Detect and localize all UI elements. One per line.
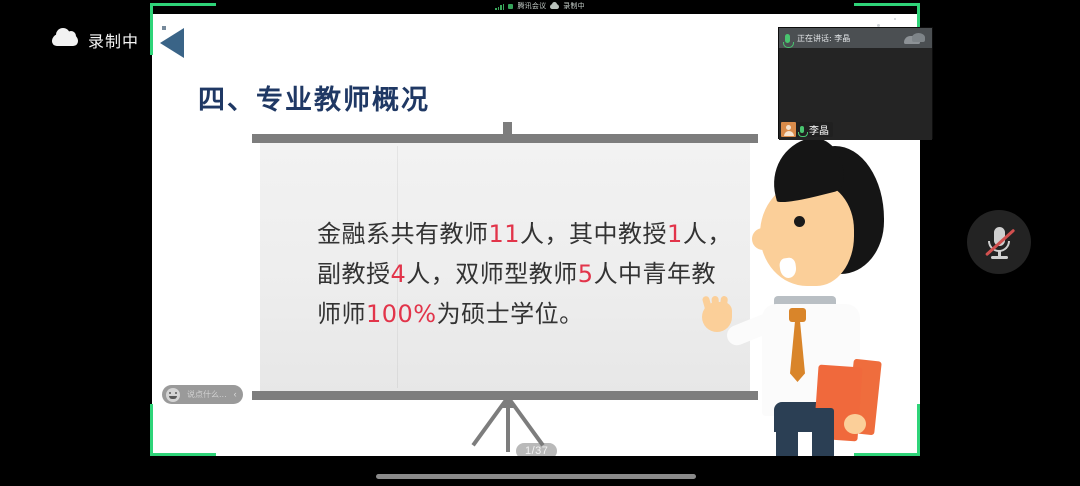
sparkle-icon <box>894 18 896 20</box>
system-status-bar: 腾讯会议 录制中 <box>0 0 1080 13</box>
status-app-name: 腾讯会议 <box>517 3 546 10</box>
video-thumbnail-header: 正在讲话: 李晶 <box>779 28 932 48</box>
tie-knot-shape <box>789 308 806 322</box>
nose-shape <box>752 228 774 250</box>
emoji-icon[interactable] <box>166 388 180 402</box>
leg-left-shape <box>776 408 798 456</box>
video-thumbnail-feed[interactable]: 李晶 <box>779 48 932 140</box>
comment-input-bar[interactable]: 说点什么... ‹ <box>162 385 243 404</box>
cloud-icon <box>550 4 559 9</box>
body-segment: 师 <box>342 300 367 328</box>
mute-toggle-button[interactable] <box>967 210 1031 274</box>
back-triangle-icon[interactable] <box>160 28 184 58</box>
body-segment: 金融系共有教师 <box>317 220 489 248</box>
body-segment: 副教授 <box>317 260 391 288</box>
body-segment: 人，双师型教师 <box>406 260 578 288</box>
cloud-icon <box>52 34 78 46</box>
recording-label: 录制中 <box>88 28 139 52</box>
projector-top-bar <box>252 134 758 143</box>
microphone-base <box>991 256 1008 259</box>
holding-hand-shape <box>844 414 866 434</box>
ear-shape <box>824 240 844 264</box>
person-avatar-icon <box>781 122 796 137</box>
hand-shape <box>702 302 732 332</box>
highlight-number: 5 <box>578 260 594 288</box>
highlight-number: 11 <box>489 220 521 248</box>
body-segment: 人， <box>683 220 732 248</box>
microphone-icon <box>800 126 804 133</box>
body-segment: 为硕士学位。 <box>437 300 584 328</box>
businessman-presenter-illustration <box>732 144 920 456</box>
status-recording-label: 录制中 <box>563 3 585 10</box>
page-title: 四、专业教师概况 <box>198 78 430 117</box>
participant-name-badge: 李晶 <box>781 122 833 137</box>
meeting-screen-share-view: 腾讯会议 录制中 录制中 四、专业教师概况 金融系共有教师11人，其中教授1人，… <box>0 0 1080 486</box>
comment-input-placeholder[interactable]: 说点什么... <box>187 389 227 400</box>
home-indicator-bar <box>376 474 696 479</box>
participant-name: 李晶 <box>809 122 829 137</box>
back-triangle-accent <box>162 26 166 30</box>
speaking-label: 正在讲话: 李晶 <box>797 33 850 44</box>
chevron-left-icon[interactable]: ‹ <box>234 390 237 399</box>
cloud-collapse-icon[interactable] <box>904 33 926 44</box>
highlight-number: 4 <box>391 260 407 288</box>
projector-leg-cap <box>499 398 517 408</box>
slide-body-text: 金融系共有教师11人，其中教授1人，副教授4人，双师型教师5人中青年教师师100… <box>317 214 737 334</box>
body-segment: 人，其中教授 <box>520 220 667 248</box>
signal-bars-icon <box>495 3 504 10</box>
highlight-number: 100% <box>366 300 437 328</box>
microphone-icon <box>785 34 790 43</box>
eye-shape <box>794 216 805 227</box>
leg-right-shape <box>812 408 834 456</box>
recording-badge: 录制中 <box>52 28 139 52</box>
page-indicator: 1/37 <box>516 443 557 456</box>
video-thumbnail-panel[interactable]: 正在讲话: 李晶 李晶 <box>778 27 933 139</box>
status-indicator-dot <box>508 4 513 9</box>
highlight-number: 1 <box>667 220 683 248</box>
